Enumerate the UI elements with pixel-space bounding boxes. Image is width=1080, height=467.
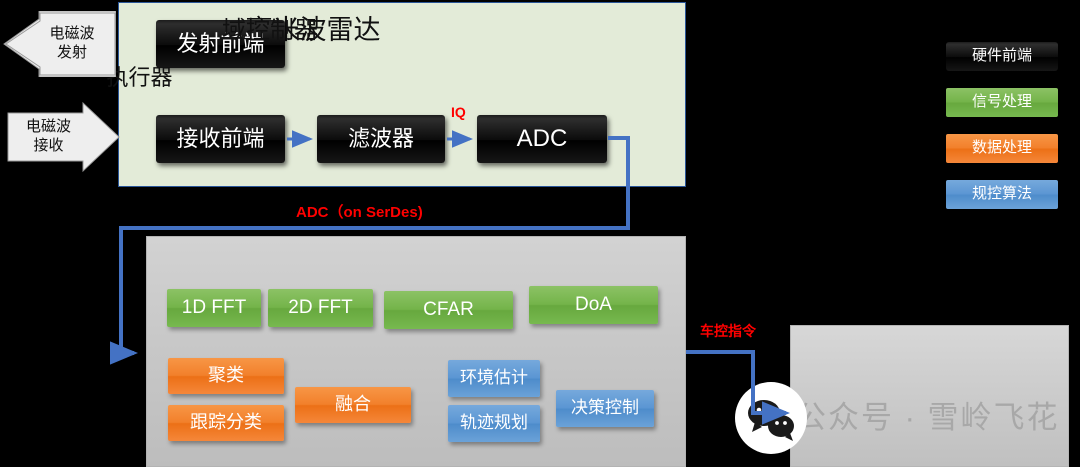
block-fusion[interactable]: 融合 (295, 387, 411, 423)
block-cfar[interactable]: CFAR (384, 291, 513, 329)
block-environment-estimation[interactable]: 环境估计 (448, 360, 540, 397)
legend: 硬件前端 信号处理 数据处理 规控算法 (946, 42, 1058, 226)
label-vehicle-command: 车控指令 (700, 321, 756, 341)
block-doa[interactable]: DoA (529, 286, 658, 324)
block-1d-fft[interactable]: 1D FFT (167, 289, 261, 327)
block-adc[interactable]: ADC (477, 115, 607, 163)
block-clustering[interactable]: 聚类 (168, 358, 284, 394)
label-adc-serdes: ADC（on SerDes) (296, 201, 423, 222)
block-decision-control[interactable]: 决策控制 (556, 390, 654, 427)
legend-item-signal-processing[interactable]: 信号处理 (946, 88, 1058, 117)
block-filter[interactable]: 滤波器 (317, 115, 445, 163)
legend-item-data-processing[interactable]: 数据处理 (946, 134, 1058, 163)
block-rx-frontend[interactable]: 接收前端 (156, 115, 285, 163)
executor-container (790, 325, 1069, 467)
legend-item-hardware[interactable]: 硬件前端 (946, 42, 1058, 71)
wave-arrow-receive: 电磁波 接收 (6, 99, 121, 175)
legend-item-planning-control[interactable]: 规控算法 (946, 180, 1058, 209)
label-iq: IQ (451, 104, 466, 120)
block-2d-fft[interactable]: 2D FFT (268, 289, 373, 327)
wechat-logo-icon (735, 382, 807, 454)
wave-arrow-transmit: 电磁波 发射 (2, 11, 116, 77)
block-tracking-classification[interactable]: 跟踪分类 (168, 405, 284, 441)
block-trajectory-planning[interactable]: 轨迹规划 (448, 405, 540, 442)
diagram-canvas: 毫米波雷达 发射前端 接收前端 滤波器 ADC 域控制器 1D FFT 2D F… (0, 0, 1080, 467)
wave-arrow-transmit-label: 电磁波 发射 (2, 11, 116, 77)
wave-arrow-receive-label: 电磁波 接收 (6, 99, 121, 175)
